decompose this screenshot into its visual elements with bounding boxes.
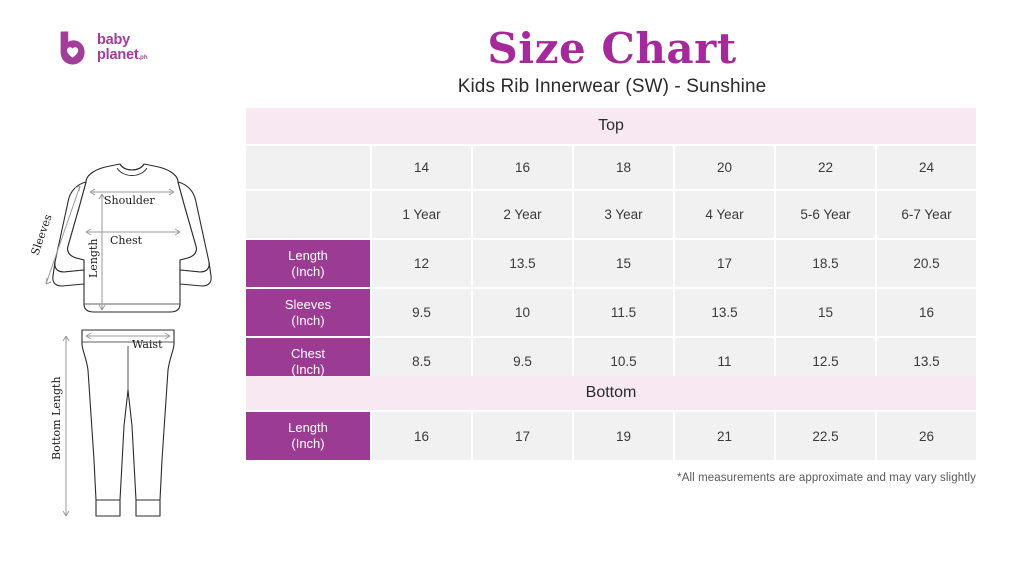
measurement-disclaimer: *All measurements are approximate and ma… — [677, 472, 976, 484]
row-label-unit: (Inch) — [291, 313, 324, 329]
label-chest: Chest — [110, 234, 143, 247]
age-header-cell: 6-7 Year — [877, 191, 976, 238]
size-header-cell: 14 — [372, 146, 471, 189]
b-heart-logo-icon — [58, 30, 88, 66]
page-title: Size Chart — [248, 24, 976, 73]
label-length: Length — [87, 239, 100, 278]
table-cell: 17 — [675, 240, 774, 287]
row-label-text: Length — [288, 248, 328, 264]
table-corner-blank-ages — [246, 191, 370, 238]
table-cell: 15 — [776, 289, 875, 336]
row-label-unit: (Inch) — [291, 436, 324, 452]
garment-measurement-illustration: Shoulder Chest Length Sleeves Waist Bott… — [24, 160, 254, 530]
size-table-top: 14 16 18 20 22 24 1 Year 2 Year 3 Year 4… — [246, 146, 976, 385]
table-cell: 12 — [372, 240, 471, 287]
age-header-cell: 5-6 Year — [776, 191, 875, 238]
table-cell: 17 — [473, 412, 572, 460]
brand-name-line1: baby — [97, 33, 148, 48]
table-cell: 13.5 — [473, 240, 572, 287]
table-cell: 26 — [877, 412, 976, 460]
age-header-cell: 3 Year — [574, 191, 673, 238]
label-waist: Waist — [132, 338, 163, 351]
brand-logo: baby planet.ph — [58, 30, 148, 66]
row-label-text: Chest — [291, 346, 325, 362]
size-table-bottom: Length (Inch) 16 17 19 21 22.5 26 — [246, 412, 976, 460]
row-label-bottom-length: Length (Inch) — [246, 412, 370, 460]
table-cell: 21 — [675, 412, 774, 460]
age-header-cell: 4 Year — [675, 191, 774, 238]
table-cell: 10 — [473, 289, 572, 336]
brand-wordmark: baby planet.ph — [97, 33, 148, 63]
table-cell: 13.5 — [675, 289, 774, 336]
table-cell: 22.5 — [776, 412, 875, 460]
section-header-bottom: Bottom — [246, 376, 976, 410]
table-cell: 15 — [574, 240, 673, 287]
table-cell: 16 — [372, 412, 471, 460]
table-cell: 20.5 — [877, 240, 976, 287]
row-label-length: Length (Inch) — [246, 240, 370, 287]
age-header-cell: 2 Year — [473, 191, 572, 238]
size-header-cell: 20 — [675, 146, 774, 189]
row-label-unit: (Inch) — [291, 362, 324, 378]
brand-name-line2: planet — [97, 47, 139, 63]
age-header-cell: 1 Year — [372, 191, 471, 238]
table-cell: 16 — [877, 289, 976, 336]
row-label-sleeves: Sleeves (Inch) — [246, 289, 370, 336]
size-chart-page: baby planet.ph Size Chart Kids Rib Inner… — [0, 0, 1024, 576]
size-header-cell: 22 — [776, 146, 875, 189]
page-subtitle: Kids Rib Innerwear (SW) - Sunshine — [248, 76, 976, 98]
row-label-text: Sleeves — [285, 297, 331, 313]
section-header-top: Top — [246, 108, 976, 144]
label-sleeves: Sleeves — [29, 212, 55, 257]
label-shoulder: Shoulder — [104, 194, 155, 207]
label-bottom-length: Bottom Length — [50, 376, 63, 460]
table-cell: 19 — [574, 412, 673, 460]
brand-tld: .ph — [139, 55, 148, 61]
size-header-cell: 16 — [473, 146, 572, 189]
table-corner-blank-sizes — [246, 146, 370, 189]
table-cell: 18.5 — [776, 240, 875, 287]
table-cell: 11.5 — [574, 289, 673, 336]
table-cell: 9.5 — [372, 289, 471, 336]
size-header-cell: 24 — [877, 146, 976, 189]
row-label-text: Length — [288, 420, 328, 436]
size-header-cell: 18 — [574, 146, 673, 189]
row-label-unit: (Inch) — [291, 264, 324, 280]
